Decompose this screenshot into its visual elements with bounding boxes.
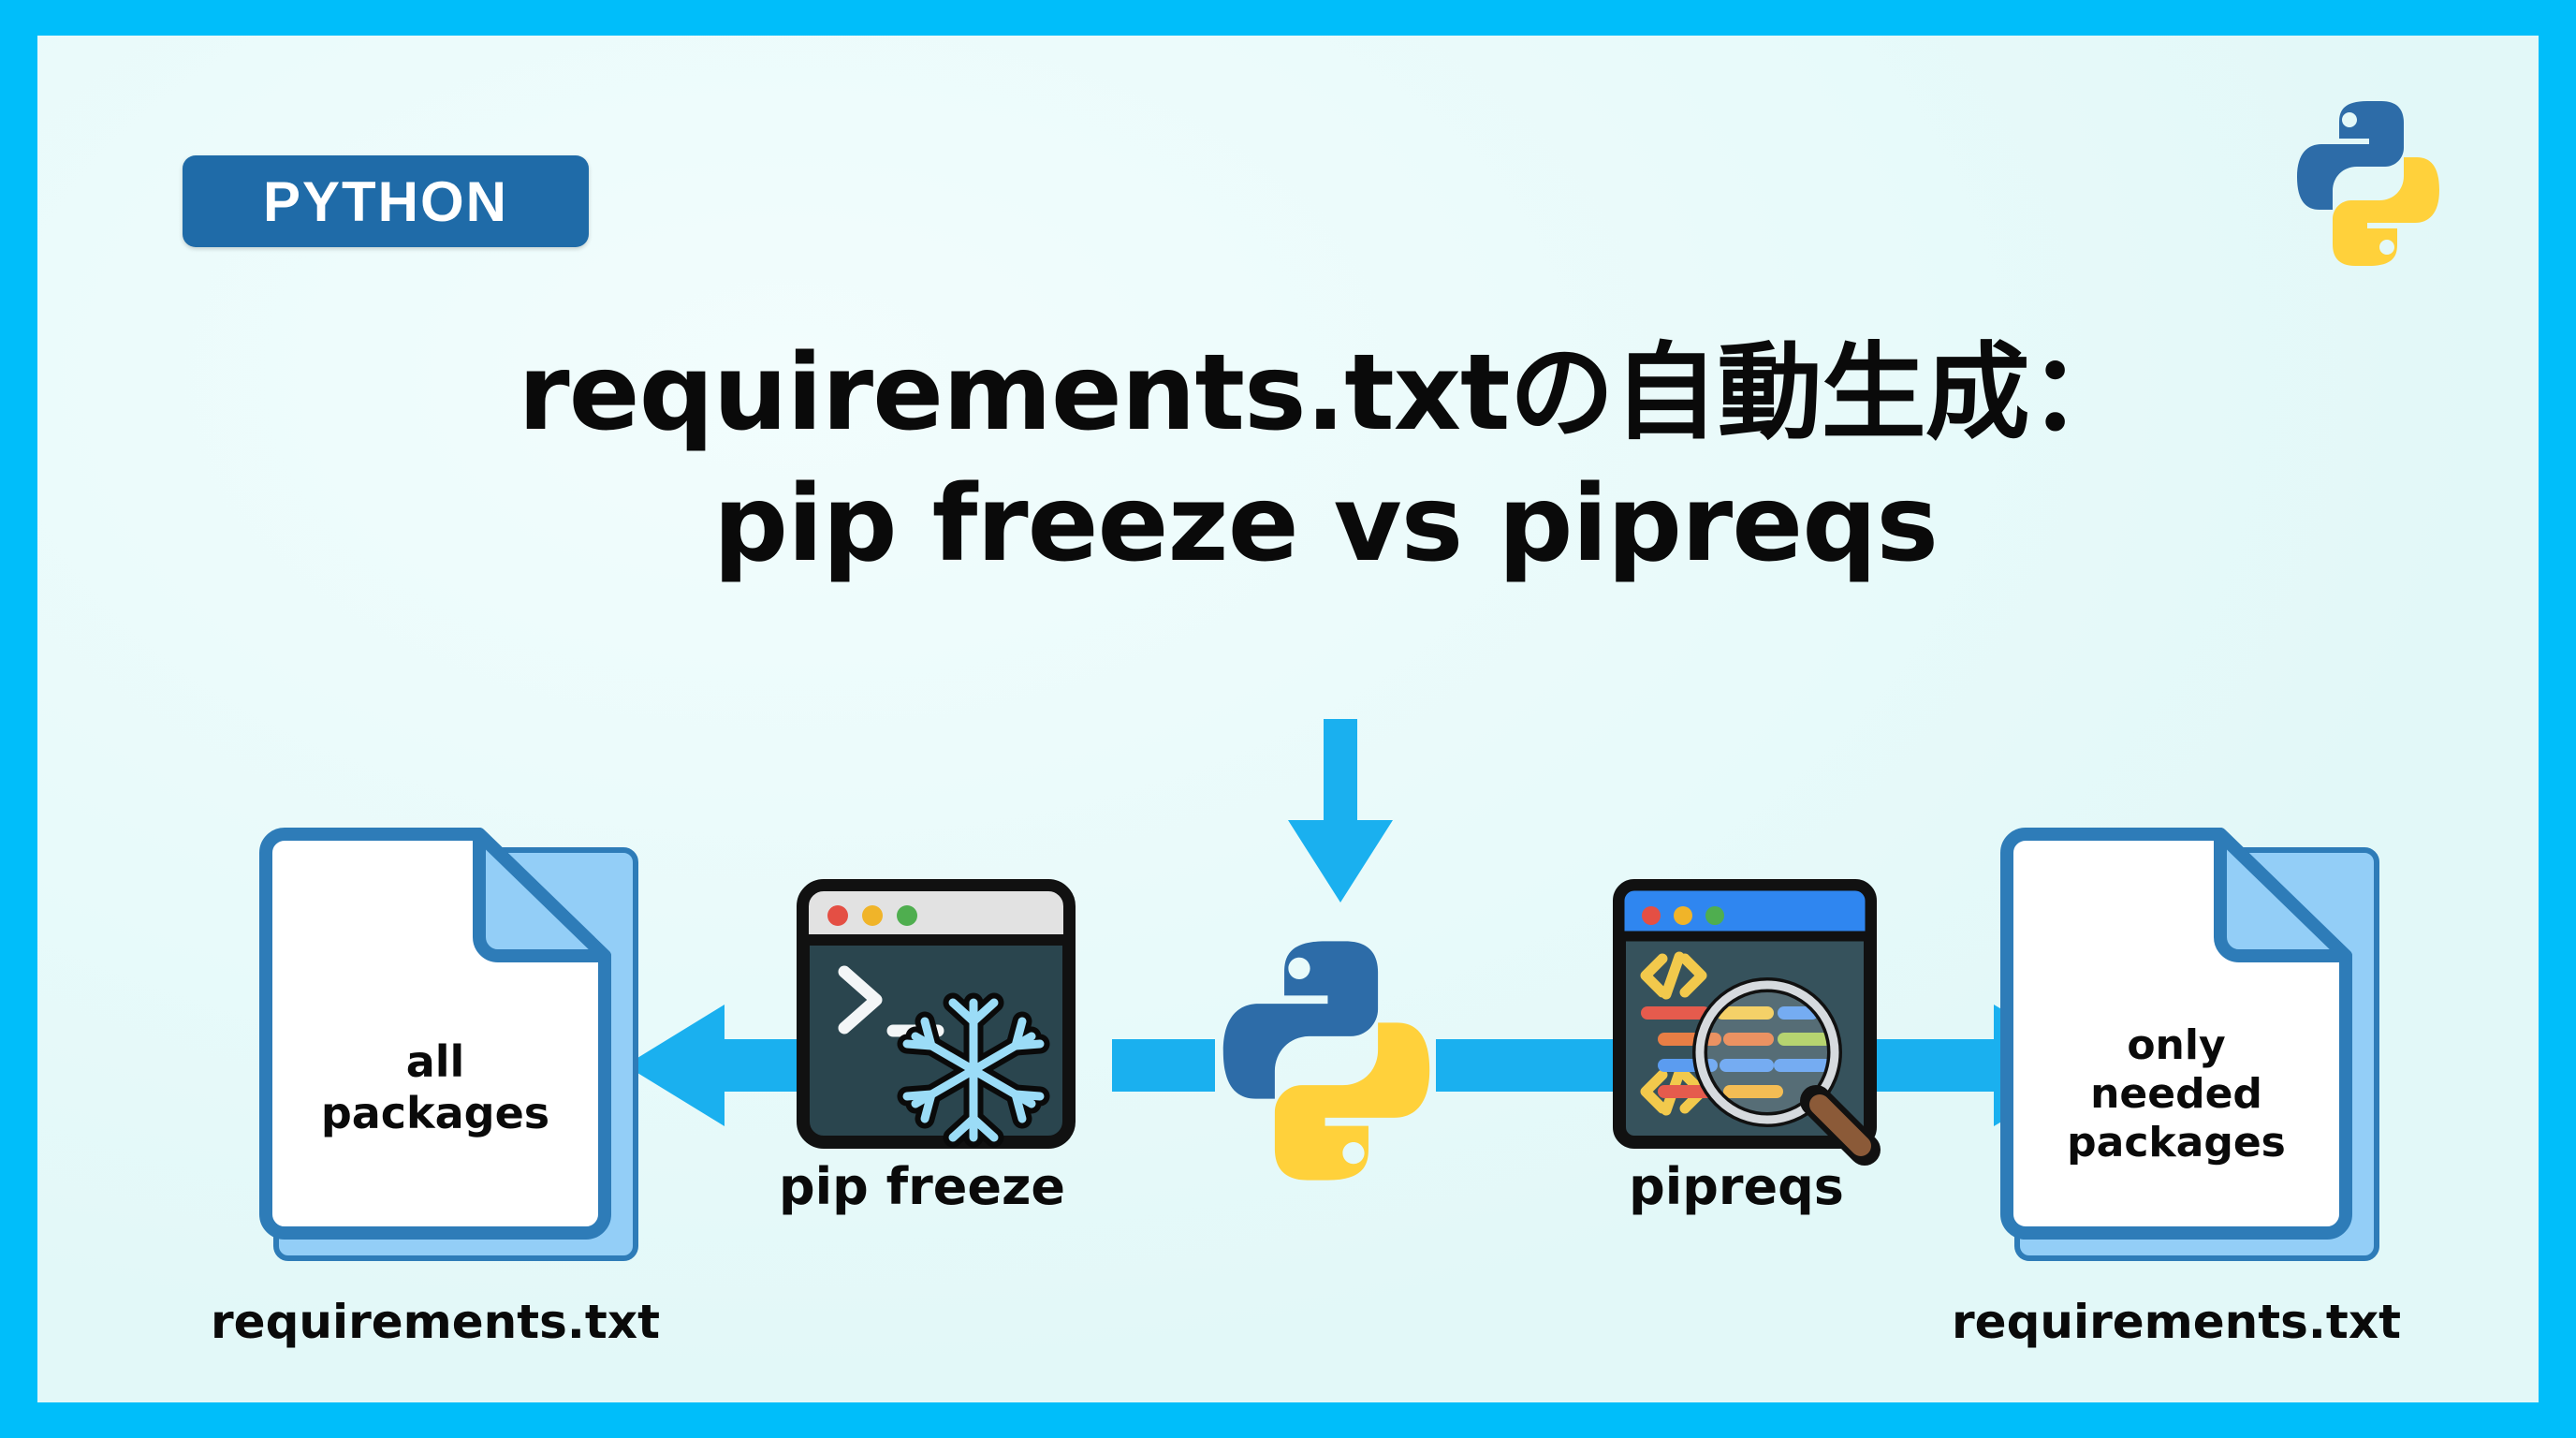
right-document-text: only needed packages: [1994, 827, 2359, 1240]
pip-freeze-tool: pip freeze: [796, 878, 1076, 1150]
page-title: requirements.txtの自動生成： pip freeze vs pip…: [37, 333, 2576, 586]
python-logo-icon: [1191, 925, 1462, 1196]
title-line-1: requirements.txtの自動生成：: [37, 333, 2576, 455]
right-doc-line-2: needed: [2090, 1070, 2262, 1119]
connector-bar-left: [1112, 1039, 1215, 1092]
python-badge-label: PYTHON: [263, 169, 508, 234]
right-document-caption: requirements.txt: [1938, 1295, 2415, 1349]
python-category-badge: PYTHON: [183, 155, 589, 247]
left-document-text: all packages: [253, 827, 618, 1240]
code-search-icon: [1610, 878, 1891, 1150]
python-logo-icon: [2275, 90, 2462, 277]
right-doc-line-3: packages: [2067, 1119, 2286, 1167]
poster-canvas: PYTHON requirements.txtの自動生成： pip freeze…: [0, 0, 2576, 1438]
pip-freeze-label: pip freeze: [707, 1157, 1137, 1216]
left-doc-line-2: packages: [321, 1088, 549, 1138]
left-document-caption: requirements.txt: [197, 1295, 674, 1349]
right-doc-line-1: only: [2127, 1021, 2225, 1070]
flow-diagram: pip freeze: [37, 691, 2576, 1402]
arrow-down-icon: [1284, 719, 1397, 906]
connector-bar-right: [1436, 1039, 1623, 1092]
pipreqs-label: pipreqs: [1521, 1157, 1952, 1216]
inner-panel: PYTHON requirements.txtの自動生成： pip freeze…: [37, 36, 2539, 1402]
pipreqs-tool: pipreqs: [1610, 878, 1891, 1150]
title-line-2: pip freeze vs pipreqs: [37, 464, 2576, 586]
terminal-snowflake-icon: [796, 878, 1076, 1150]
left-doc-line-1: all: [406, 1036, 465, 1087]
